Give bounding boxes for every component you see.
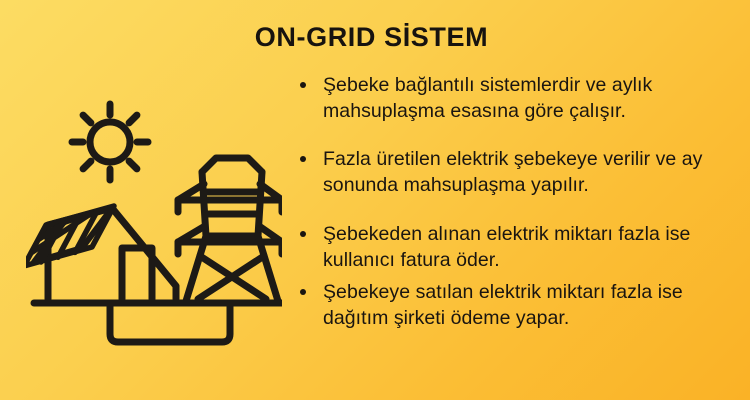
bullet-point-icon [300, 289, 306, 295]
on-grid-illustration [26, 96, 282, 346]
list-item: Şebeke bağlantılı sistemlerdir ve aylık … [295, 72, 740, 124]
list-item-text: Şebeke bağlantılı sistemlerdir ve aylık … [323, 72, 740, 124]
sun-icon [72, 104, 148, 180]
bullet-list: Şebeke bağlantılı sistemlerdir ve aylık … [295, 72, 740, 331]
bullet-point-icon [300, 82, 306, 88]
grid-connection-line-icon [110, 303, 230, 342]
bullet-point-icon [300, 156, 306, 162]
slide-root: ON-GRID SİSTEM Şebeke bağlantılı sisteml… [0, 0, 750, 400]
list-item: Şebekeden alınan elektrik miktarı fazla … [295, 221, 740, 273]
bullet-point-icon [300, 231, 306, 237]
page-title: ON-GRID SİSTEM [250, 22, 493, 53]
content-panel: ON-GRID SİSTEM Şebeke bağlantılı sisteml… [250, 0, 750, 400]
list-item-text: Şebekeye satılan elektrik miktarı fazla … [323, 279, 740, 331]
list-item-text: Şebekeden alınan elektrik miktarı fazla … [323, 221, 740, 273]
list-item-text: Fazla üretilen elektrik şebekeye verilir… [323, 146, 740, 198]
list-item: Fazla üretilen elektrik şebekeye verilir… [295, 146, 740, 198]
list-item: Şebekeye satılan elektrik miktarı fazla … [295, 279, 740, 331]
